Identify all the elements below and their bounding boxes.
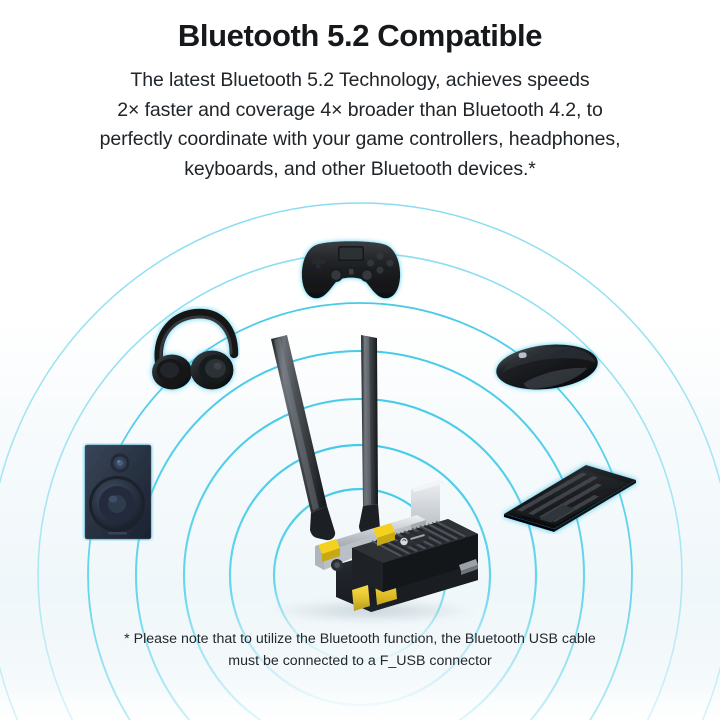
footnote: * Please note that to utilize the Blueto… [40, 628, 680, 672]
keyboard-icon [500, 458, 640, 534]
description-line-2: 2× faster and coverage 4× broader than B… [28, 96, 692, 126]
game-controller-icon [297, 232, 405, 304]
headphones-icon [146, 306, 240, 398]
footnote-line-2: must be connected to a F_USB connector [40, 650, 680, 672]
antenna-left [271, 335, 335, 540]
footnote-line-1: * Please note that to utilize the Blueto… [40, 628, 680, 650]
mount-screw [331, 559, 343, 571]
description-paragraph: The latest Bluetooth 5.2 Technology, ach… [28, 66, 692, 185]
page-title: Bluetooth 5.2 Compatible [0, 18, 720, 54]
promo-image: Bluetooth 5.2 Compatible The latest Blue… [0, 0, 720, 720]
antenna-right [359, 335, 380, 536]
description-line-3: perfectly coordinate with your game cont… [28, 125, 692, 155]
card-shadow [268, 600, 478, 622]
description-line-4: keyboards, and other Bluetooth devices.* [28, 155, 692, 185]
pcie-wifi-card [252, 330, 484, 620]
description-line-1: The latest Bluetooth 5.2 Technology, ach… [28, 66, 692, 96]
speaker-icon [82, 443, 154, 541]
mouse-icon [492, 337, 602, 395]
